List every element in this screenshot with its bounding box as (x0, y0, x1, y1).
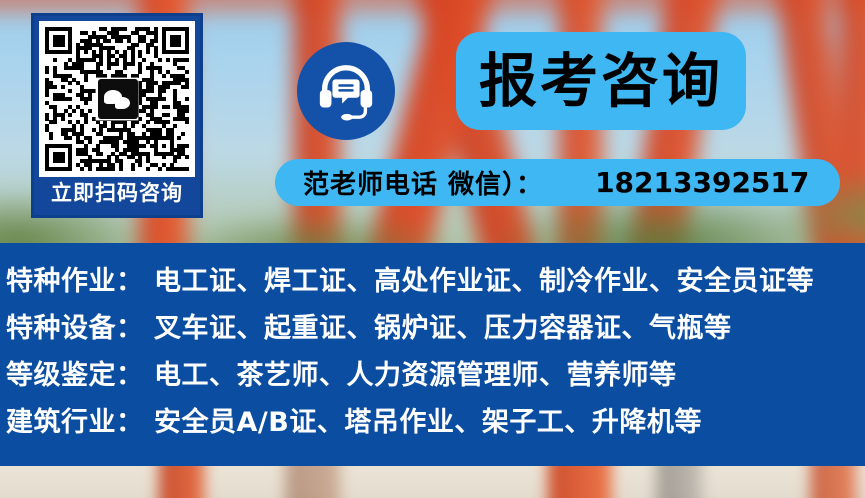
course-category: 特种设备： (6, 306, 154, 345)
course-category: 等级鉴定： (6, 353, 154, 392)
bottom-photo-strip (0, 466, 865, 498)
course-category: 建筑行业： (6, 400, 154, 439)
promo-poster: 立即扫码咨询 报考咨询 范老师电话 微信）： 18213392517 特种作业：… (0, 0, 865, 498)
course-items: 电工、茶艺师、人力资源管理师、营养师等 (154, 353, 677, 392)
course-list-panel: 特种作业： 电工证、焊工证、高处作业证、制冷作业、安全员证等 特种设备： 叉车证… (0, 243, 865, 466)
wechat-icon (98, 79, 138, 119)
course-row: 特种作业： 电工证、焊工证、高处作业证、制冷作业、安全员证等 (6, 259, 865, 306)
contact-pill[interactable]: 范老师电话 微信）： 18213392517 (275, 159, 840, 206)
qr-caption: 立即扫码咨询 (51, 182, 183, 205)
course-row: 建筑行业： 安全员A/B证、塔吊作业、架子工、升降机等 (6, 400, 865, 447)
headset-support-icon (297, 42, 395, 140)
qr-card[interactable]: 立即扫码咨询 (31, 13, 203, 218)
construction-photo-blurred (0, 466, 865, 498)
course-category: 特种作业： (6, 259, 154, 298)
course-row: 等级鉴定： 电工、茶艺师、人力资源管理师、营养师等 (6, 353, 865, 400)
course-items: 安全员A/B证、塔吊作业、架子工、升降机等 (154, 400, 702, 439)
course-items: 叉车证、起重证、锅炉证、压力容器证、气瓶等 (154, 306, 732, 345)
course-row: 特种设备： 叉车证、起重证、锅炉证、压力容器证、气瓶等 (6, 306, 865, 353)
page-title: 报考咨询 (479, 52, 723, 110)
wechat-bubble-small (115, 97, 130, 109)
course-items: 电工证、焊工证、高处作业证、制冷作业、安全员证等 (154, 259, 814, 298)
qr-code-box[interactable] (39, 21, 195, 177)
title-pill: 报考咨询 (456, 32, 746, 130)
contact-phone-number[interactable]: 18213392517 (595, 166, 809, 199)
contact-label: 范老师电话 微信）： (303, 164, 543, 201)
